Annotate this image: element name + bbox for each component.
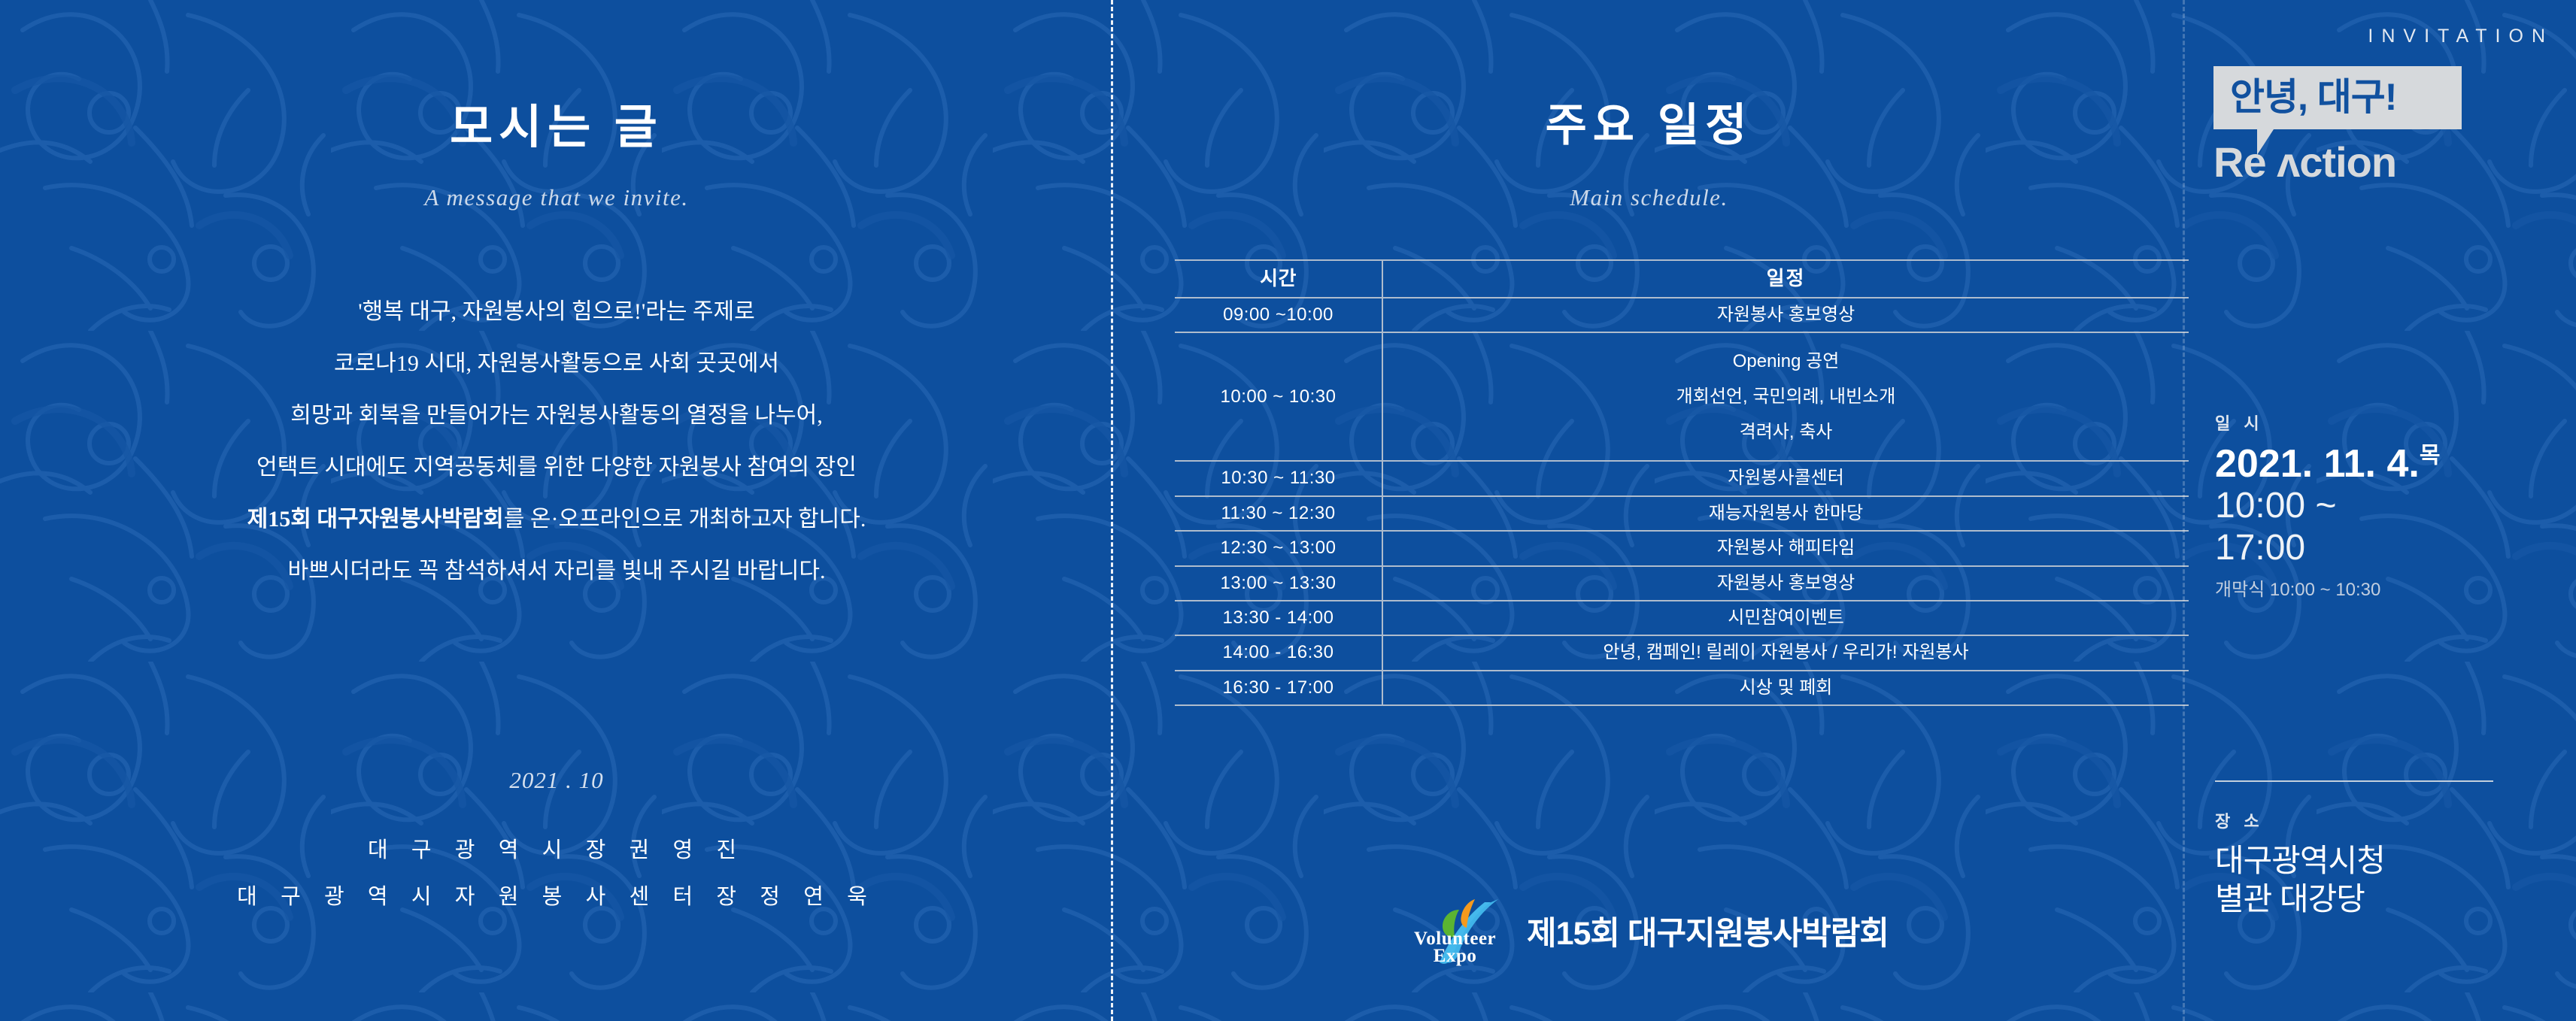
expo-title: 제15회 대구지원봉사박람회 — [1527, 907, 1889, 954]
table-row: 12:30 ~ 13:00 자원봉사 해피타임 — [1175, 531, 2189, 565]
table-row: 13:00 ~ 13:30 자원봉사 홍보영상 — [1175, 566, 2189, 601]
schedule-table-wrapper: 시간 일정 09:00 ~10:00 자원봉사 홍보영상 10:00 ~ 10:… — [1175, 259, 2189, 706]
expo-word-line2: Expo — [1414, 947, 1496, 965]
volunteer-expo-wordmark: Volunteer Expo — [1414, 930, 1496, 966]
bubble-slogan: 안녕, 대구! — [2230, 78, 2445, 116]
schedule-time: 13:30 - 14:00 — [1175, 601, 1382, 635]
schedule-time: 14:00 - 16:30 — [1175, 635, 1382, 670]
invitation-stage: 모시는 글 A message that we invite. '행복 대구, … — [0, 0, 2576, 1021]
when-block: 일 시 2021. 11. 4.목 10:00 ~ 17:00 개막식 10:0… — [2215, 411, 2538, 601]
opening-ceremony-note: 개막식 10:00 ~ 10:30 — [2215, 574, 2538, 601]
schedule-program: 자원봉사콜센터 — [1382, 461, 2189, 495]
event-time-start: 10:00 ~ — [2215, 485, 2538, 528]
schedule-time: 10:00 ~ 10:30 — [1175, 332, 1382, 461]
schedule-program: 자원봉사 해피타임 — [1382, 531, 2189, 565]
table-row: 13:30 - 14:00 시민참여이벤트 — [1175, 601, 2189, 635]
schedule-program-item: 개회선언, 국민의례, 내빈소개 — [1386, 379, 2186, 414]
event-name-emphasis: 제15회 대구자원봉사박람회 — [247, 507, 504, 532]
speech-bubble-tail-icon — [2257, 129, 2290, 155]
event-date: 2021. 11. 4.목 — [2215, 444, 2538, 485]
event-time-end: 17:00 — [2215, 527, 2538, 570]
schedule-panel-subtitle: Main schedule. — [1113, 184, 2185, 211]
table-row: 16:30 - 17:00 시상 및 폐회 — [1175, 671, 2189, 705]
table-row: 10:00 ~ 10:30 Opening 공연 개회선언, 국민의례, 내빈소… — [1175, 332, 2189, 461]
schedule-program: 시민참여이벤트 — [1382, 601, 2189, 635]
schedule-program: 재능자원봉사 한마당 — [1382, 496, 2189, 531]
venue-line-1: 대구광역시청 — [2215, 841, 2538, 880]
signature-line: 대 구 광 역 시 장 권 영 진 — [45, 827, 1068, 874]
venue-line-2: 별관 대강당 — [2215, 880, 2538, 918]
volunteer-expo-logo: Volunteer Expo 제15회 대구지원봉사박람회 — [1113, 895, 2185, 967]
signature-block: 대 구 광 역 시 장 권 영 진 대 구 광 역 시 자 원 봉 사 센 터 … — [45, 827, 1068, 920]
message-highlight-line: 제15회 대구자원봉사박람회를 온·오프라인으로 개최하고자 합니다. — [45, 493, 1068, 545]
schedule-table: 시간 일정 09:00 ~10:00 자원봉사 홍보영상 10:00 ~ 10:… — [1175, 259, 2189, 706]
message-line: 희망과 회복을 만들어가는 자원봉사활동의 열정을 나누어, — [45, 389, 1068, 441]
message-panel-subtitle: A message that we invite. — [0, 184, 1113, 211]
message-closing-line: 바쁘시더라도 꼭 참석하셔서 자리를 빛내 주시길 바랍니다. — [45, 545, 1068, 597]
schedule-panel-title: 주요 일정 — [1113, 89, 2185, 154]
schedule-program: Opening 공연 개회선언, 국민의례, 내빈소개 격려사, 축사 — [1382, 332, 2189, 461]
table-row: 09:00 ~10:00 자원봉사 홍보영상 — [1175, 298, 2189, 332]
schedule-program-item: 격려사, 축사 — [1386, 414, 2186, 450]
message-panel: 모시는 글 A message that we invite. '행복 대구, … — [0, 0, 1113, 1021]
details-divider — [2215, 780, 2493, 782]
when-kicker: 일 시 — [2215, 411, 2538, 435]
where-kicker: 장 소 — [2215, 808, 2538, 832]
table-row: 10:30 ~ 11:30 자원봉사콜센터 — [1175, 461, 2189, 495]
where-block: 장 소 대구광역시청 별관 대강당 — [2215, 808, 2538, 918]
schedule-program: 안녕, 캠페인! 릴레이 자원봉사 / 우리가! 자원봉사 — [1382, 635, 2189, 670]
message-line: 코로나19 시대, 자원봉사활동으로 사회 곳곳에서 — [45, 338, 1068, 389]
schedule-col-header-program: 일정 — [1382, 260, 2189, 298]
event-day-of-week: 목 — [2420, 444, 2441, 468]
schedule-col-header-time: 시간 — [1175, 260, 1382, 298]
message-date: 2021 . 10 — [0, 767, 1113, 794]
schedule-time: 10:30 ~ 11:30 — [1175, 461, 1382, 495]
schedule-time: 16:30 - 17:00 — [1175, 671, 1382, 705]
message-body: '행복 대구, 자원봉사의 힘으로!'라는 주제로 코로나19 시대, 자원봉사… — [45, 286, 1068, 597]
signature-line: 대 구 광 역 시 자 원 봉 사 센 터 장 정 연 욱 — [45, 874, 1068, 920]
event-name-rest: 를 온·오프라인으로 개최하고자 합니다. — [504, 507, 866, 532]
schedule-panel: 주요 일정 Main schedule. 시간 일정 09:00 ~10:00 … — [1113, 0, 2185, 1021]
invitation-label: INVITATION — [2210, 26, 2553, 47]
schedule-program: 시상 및 폐회 — [1382, 671, 2189, 705]
event-date-value: 2021. 11. 4. — [2215, 442, 2420, 486]
schedule-program: 자원봉사 홍보영상 — [1382, 298, 2189, 332]
details-panel: INVITATION 안녕, 대구! Re ʌction 일 시 2021. 1… — [2185, 0, 2576, 1021]
speech-bubble-icon: 안녕, 대구! — [2213, 66, 2462, 129]
volunteer-expo-mark-icon: Volunteer Expo — [1409, 895, 1522, 967]
schedule-program-item: Opening 공연 — [1386, 344, 2186, 379]
schedule-header-row: 시간 일정 — [1175, 260, 2189, 298]
message-line: 언택트 시대에도 지역공동체를 위한 다양한 자원봉사 참여의 장인 — [45, 441, 1068, 493]
schedule-time: 09:00 ~10:00 — [1175, 298, 1382, 332]
hello-daegu-reaction-logo: 안녕, 대구! Re ʌction — [2213, 66, 2522, 183]
schedule-time: 12:30 ~ 13:00 — [1175, 531, 1382, 565]
expo-word-line1: Volunteer — [1414, 930, 1496, 948]
schedule-time: 13:00 ~ 13:30 — [1175, 566, 1382, 601]
message-panel-title: 모시는 글 — [0, 89, 1113, 156]
message-line: '행복 대구, 자원봉사의 힘으로!'라는 주제로 — [45, 286, 1068, 338]
table-row: 11:30 ~ 12:30 재능자원봉사 한마당 — [1175, 496, 2189, 531]
schedule-program: 자원봉사 홍보영상 — [1382, 566, 2189, 601]
schedule-time: 11:30 ~ 12:30 — [1175, 496, 1382, 531]
table-row: 14:00 - 16:30 안녕, 캠페인! 릴레이 자원봉사 / 우리가! 자… — [1175, 635, 2189, 670]
